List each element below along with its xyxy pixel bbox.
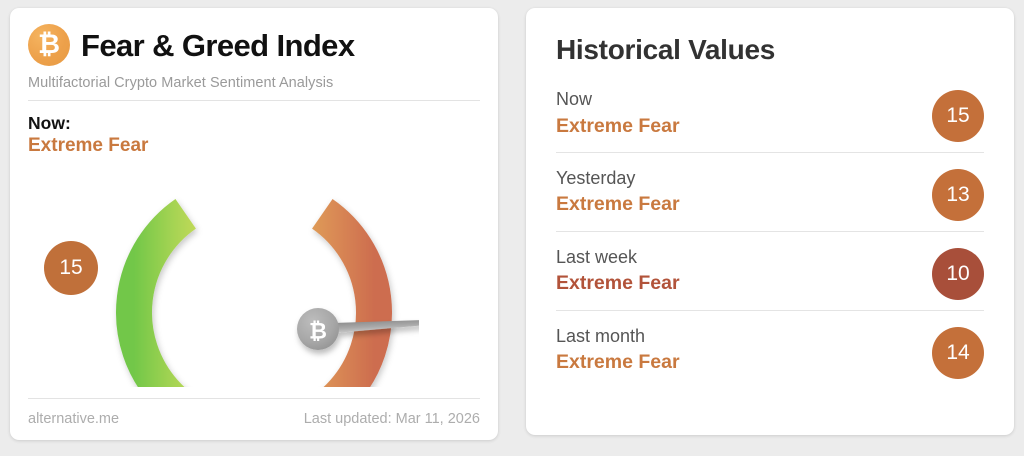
- status-badge: 13: [932, 169, 984, 221]
- gauge-card: ₿ Fear & Greed Index Multifactorial Cryp…: [10, 8, 498, 440]
- history-value: 15: [946, 104, 969, 128]
- current-reading-label: Now:: [28, 113, 480, 133]
- gauge-chart: ₿ 15: [28, 153, 480, 440]
- status-badge: 15: [932, 90, 984, 142]
- history-period-label: Last month: [556, 325, 984, 348]
- needle-bitcoin-icon: ₿: [309, 320, 327, 345]
- list-item[interactable]: Yesterday Extreme Fear 13: [556, 167, 984, 232]
- brand-header: ₿ Fear & Greed Index: [28, 24, 480, 66]
- list-item[interactable]: Last week Extreme Fear 10: [556, 246, 984, 311]
- history-classification: Extreme Fear: [556, 193, 984, 216]
- historical-values-list: Now Extreme Fear 15 Yesterday Extreme Fe…: [556, 88, 984, 403]
- gauge-arc: [134, 214, 374, 387]
- list-item[interactable]: Now Extreme Fear 15: [556, 88, 984, 153]
- history-value: 10: [946, 262, 969, 286]
- page-subtitle: Multifactorial Crypto Market Sentiment A…: [28, 75, 480, 91]
- history-value: 13: [946, 183, 969, 207]
- bitcoin-icon: ₿: [28, 24, 70, 66]
- history-period-label: Now: [556, 88, 984, 111]
- gauge-dial: ₿: [89, 157, 419, 387]
- status-badge: 10: [932, 248, 984, 300]
- fear-greed-dashboard: ₿ Fear & Greed Index Multifactorial Cryp…: [0, 0, 1024, 456]
- history-period-label: Yesterday: [556, 167, 984, 190]
- source-link[interactable]: alternative.me: [28, 411, 119, 427]
- history-classification: Extreme Fear: [556, 272, 984, 295]
- footer-divider: [28, 398, 480, 399]
- history-classification: Extreme Fear: [556, 115, 984, 138]
- historical-values-title: Historical Values: [556, 36, 984, 64]
- last-updated-text: Last updated: Mar 11, 2026: [304, 411, 480, 427]
- gauge-value-badge-text: 15: [59, 256, 82, 280]
- history-period-label: Last week: [556, 246, 984, 269]
- status-badge: 14: [932, 327, 984, 379]
- history-classification: Extreme Fear: [556, 351, 984, 374]
- gauge-footer: alternative.me Last updated: Mar 11, 202…: [28, 398, 480, 427]
- history-value: 14: [946, 341, 969, 365]
- historical-values-card: Historical Values Now Extreme Fear 15 Ye…: [526, 8, 1014, 435]
- header-divider: [28, 100, 480, 101]
- gauge-value-badge: 15: [44, 241, 98, 295]
- page-title: Fear & Greed Index: [81, 30, 354, 61]
- list-item[interactable]: Last month Extreme Fear 14: [556, 325, 984, 389]
- current-reading: Now: Extreme Fear: [28, 113, 480, 157]
